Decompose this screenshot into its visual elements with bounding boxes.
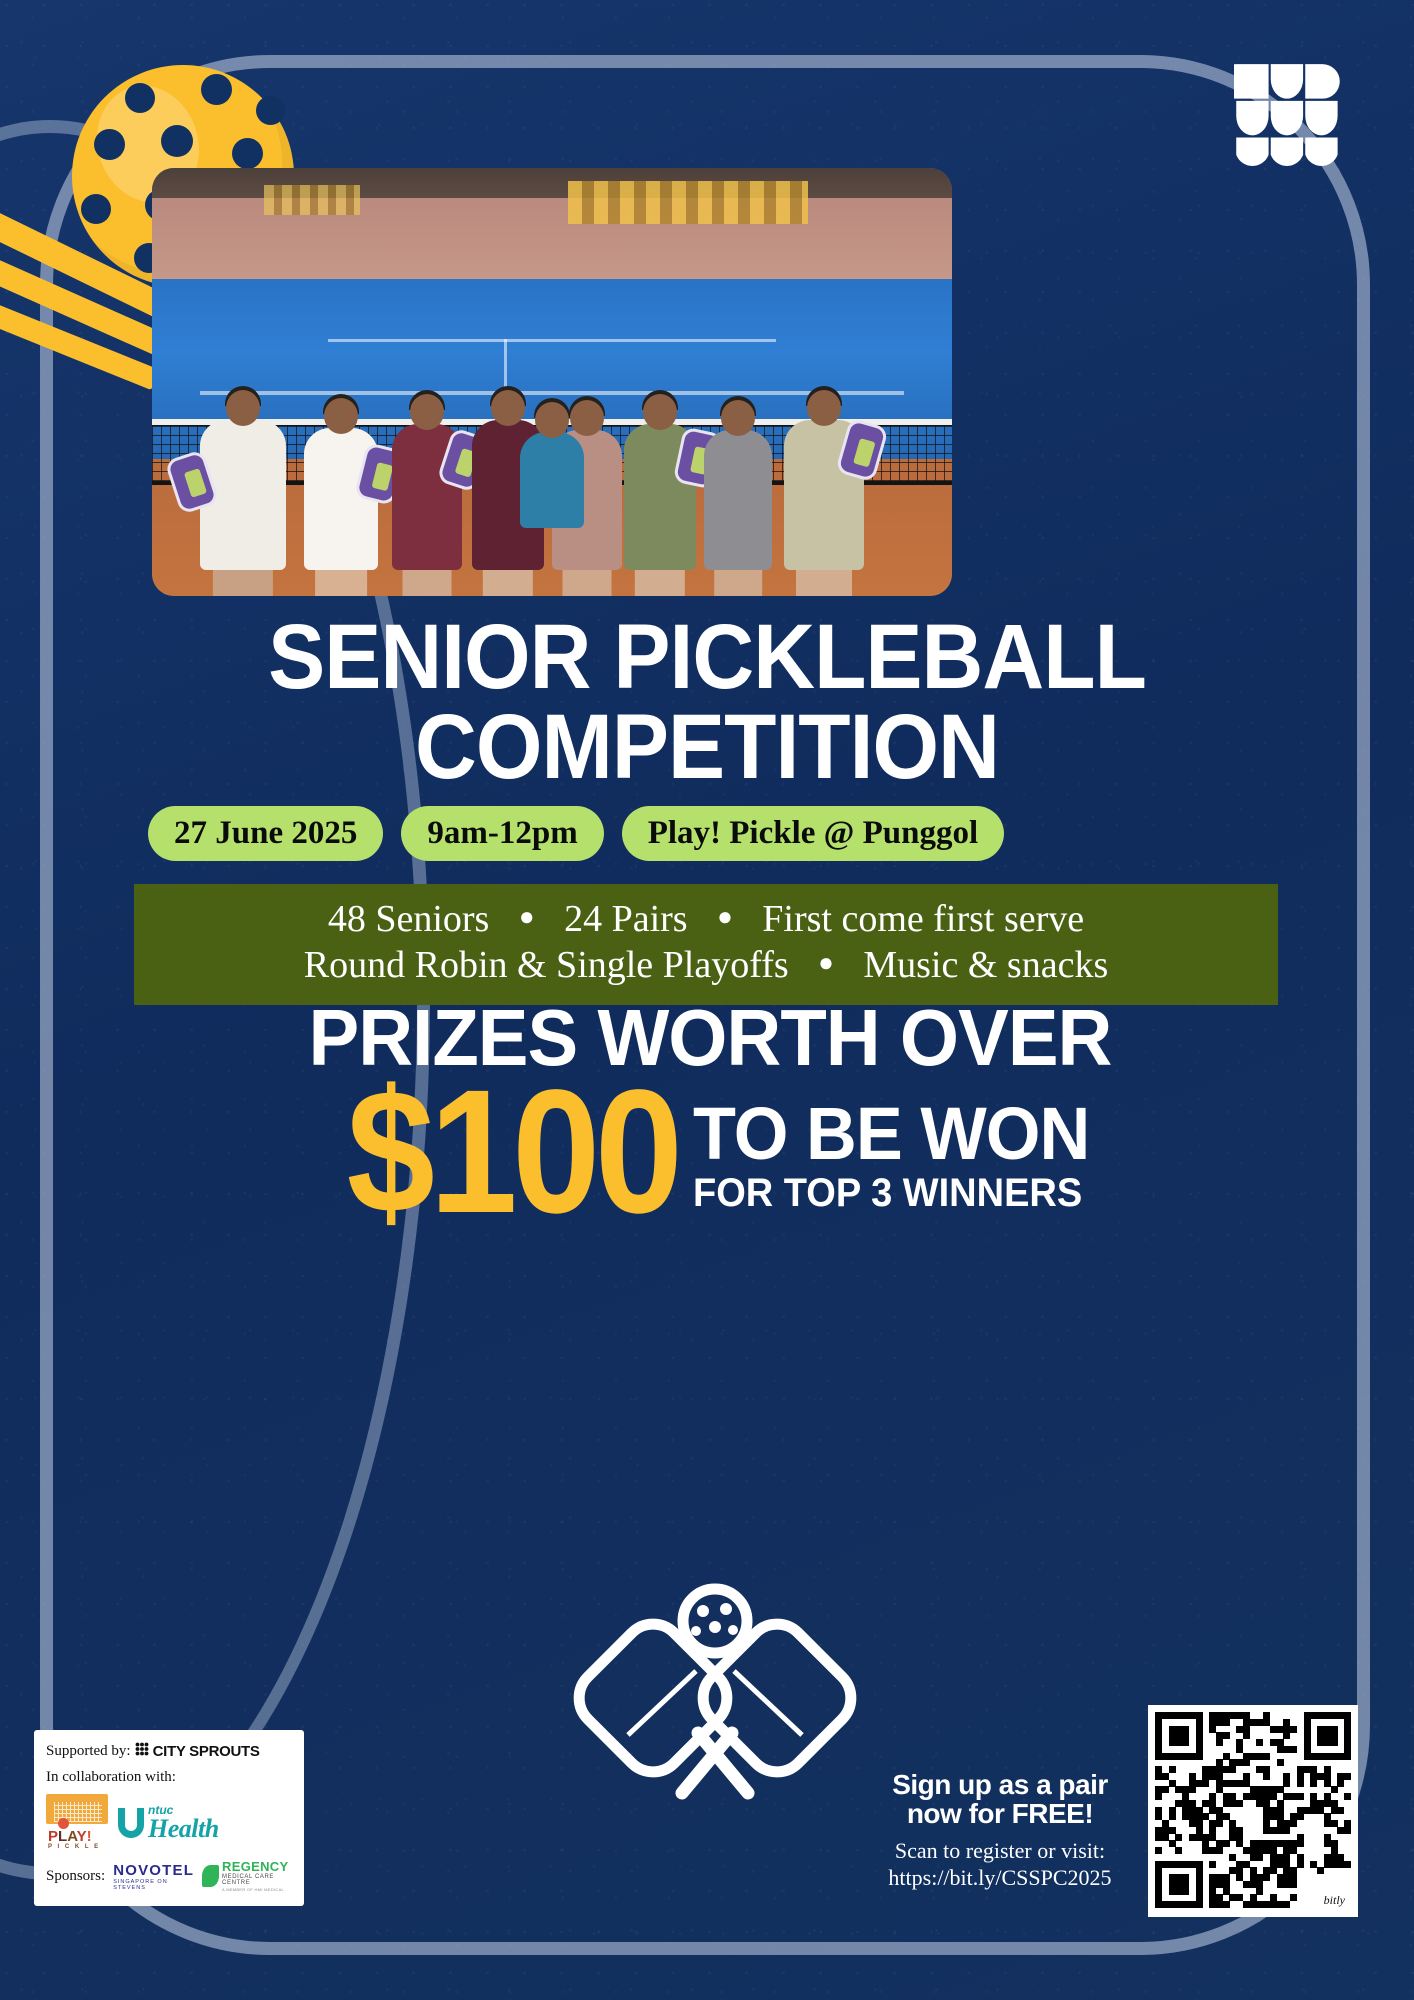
qr-code[interactable]: bitly	[1148, 1705, 1358, 1917]
time-pill: 9am-12pm	[401, 806, 603, 861]
city-sprouts-mark-icon	[135, 1742, 149, 1761]
crossed-paddles-icon	[570, 1575, 860, 1815]
signup-headline-1: Sign up as a pair	[860, 1770, 1140, 1799]
title-line-1: SENIOR PICKLEBALL	[142, 612, 1271, 702]
regency-name: REGENCY	[222, 1860, 292, 1874]
signup-block: Sign up as a pair now for FREE! Scan to …	[860, 1770, 1140, 1892]
venue-pill: Play! Pickle @ Punggol	[622, 806, 1004, 861]
novotel-tagline: SINGAPORE ON STEVENS	[113, 1879, 194, 1891]
collaborator-logos: PLAY! P I C K L E ntuc Health	[46, 1794, 292, 1852]
sponsors-row: Sponsors: NOVOTEL SINGAPORE ON STEVENS R…	[46, 1860, 292, 1892]
regency-leaf-icon	[202, 1865, 219, 1887]
collaboration-label: In collaboration with:	[46, 1769, 292, 1786]
novotel-name: NOVOTEL	[113, 1862, 194, 1879]
regency-tagline: MEDICAL CARE CENTRE	[222, 1874, 292, 1887]
play-pickle-logo: PLAY! P I C K L E	[46, 1794, 108, 1852]
qr-brand-label: bitly	[1324, 1893, 1345, 1908]
title-line-2: COMPETITION	[142, 702, 1271, 792]
prizes-headline: PRIZES WORTH OVER	[150, 1000, 1271, 1076]
info-row-2: Round Robin & Single Playoffs ● Music & …	[134, 942, 1278, 988]
prize-to-be-won: TO BE WON	[693, 1100, 1089, 1168]
regency-logo: REGENCY MEDICAL CARE CENTRE A MEMBER OF …	[202, 1860, 292, 1892]
city-sprouts-name: CITY SPROUTS	[153, 1743, 260, 1760]
group-photo-seniors-pickleball	[152, 168, 952, 596]
signup-headline-2: now for FREE!	[860, 1799, 1140, 1828]
info-48-seniors: 48 Seniors	[328, 898, 490, 940]
event-details-pills: 27 June 2025 9am-12pm Play! Pickle @ Pun…	[148, 806, 1268, 861]
info-music-snacks: Music & snacks	[863, 944, 1108, 986]
info-24-pairs: 24 Pairs	[564, 898, 688, 940]
city-sprouts-logo	[1234, 62, 1342, 172]
supported-by-row: Supported by: CITY SPROUTS	[46, 1742, 292, 1761]
prize-top3-note: FOR TOP 3 WINNERS	[693, 1172, 1089, 1214]
prize-amount: $100	[346, 1080, 677, 1224]
info-first-come: First come first serve	[762, 898, 1084, 940]
supported-by-label: Supported by:	[46, 1743, 131, 1760]
date-pill: 27 June 2025	[148, 806, 383, 861]
ntuc-health-logo: ntuc Health	[118, 1804, 219, 1842]
bullet-dot-icon: ●	[717, 901, 733, 933]
page-title: SENIOR PICKLEBALL COMPETITION	[142, 612, 1271, 792]
regency-member-note: A MEMBER OF HMI MEDICAL	[222, 1888, 292, 1892]
bullet-dot-icon: ●	[818, 947, 834, 979]
info-round-robin: Round Robin & Single Playoffs	[304, 944, 789, 986]
sponsors-card: Supported by: CITY SPROUTS In collaborat…	[34, 1730, 304, 1906]
info-row-1: 48 Seniors ● 24 Pairs ● First come first…	[134, 896, 1278, 942]
bullet-dot-icon: ●	[519, 901, 535, 933]
prizes-block: PRIZES WORTH OVER $100 TO BE WON FOR TOP…	[120, 1000, 1300, 1224]
scan-instruction: Scan to register or visit:	[860, 1837, 1140, 1865]
novotel-logo: NOVOTEL SINGAPORE ON STEVENS	[113, 1862, 194, 1891]
signup-url[interactable]: https://bit.ly/CSSPC2025	[860, 1864, 1140, 1892]
event-info-box: 48 Seniors ● 24 Pairs ● First come first…	[134, 884, 1278, 1005]
health-label: Health	[148, 1816, 219, 1842]
sponsors-label: Sponsors:	[46, 1868, 105, 1885]
